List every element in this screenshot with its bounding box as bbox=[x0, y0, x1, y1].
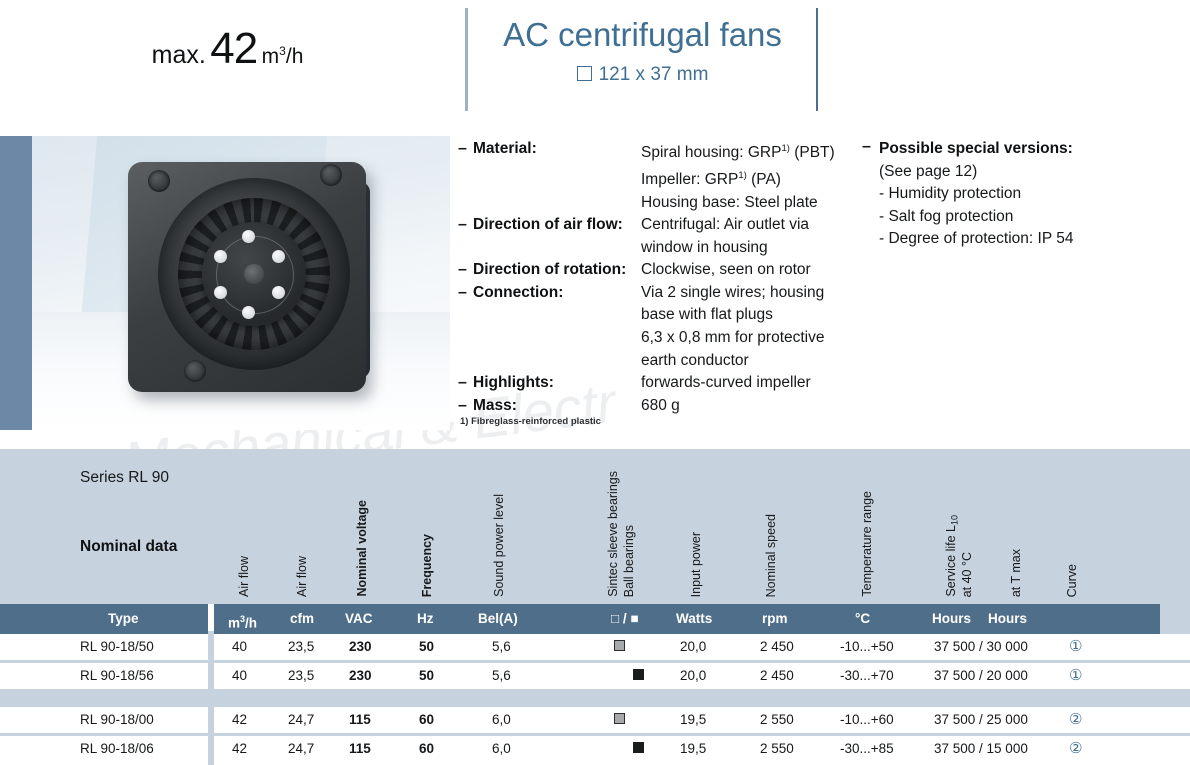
page-title: AC centrifugal fans bbox=[470, 18, 815, 53]
spec-label-rotation-direction: Direction of rotation: bbox=[473, 259, 641, 282]
cell-airflow-m3h: 42 bbox=[232, 707, 247, 733]
cell-temperature: -30...+85 bbox=[840, 736, 894, 762]
spec-row-highlights: – Highlights: forwards-curved impeller bbox=[458, 372, 868, 395]
col-header-nominal-voltage: Nominal voltage bbox=[356, 500, 369, 597]
col-header-at-t-max: at T max bbox=[1010, 549, 1023, 597]
cell-bearing-sintec bbox=[614, 707, 625, 733]
spec-row-mass: – Mass: 680 g bbox=[458, 395, 868, 418]
unit-hours-40c: Hours bbox=[932, 604, 971, 634]
col-header-sound-power-level: Sound power level bbox=[493, 494, 506, 597]
sintec-bearing-icon bbox=[614, 713, 625, 724]
subtitle-text: 121 x 37 mm bbox=[599, 64, 709, 85]
datasheet-page: 富盛加 Mechanical & Electr max. 42 m3/h AC … bbox=[0, 0, 1190, 755]
specifications-list: – Material: Spiral housing: GRP1) (PBT) … bbox=[458, 138, 868, 417]
page-header: max. 42 m3/h AC centrifugal fans 121 x 3… bbox=[0, 0, 1190, 130]
col-header-service-life-temp: at 40 °C bbox=[960, 552, 975, 597]
cell-service-life: 37 500 / 20 000 bbox=[934, 663, 1028, 689]
max-value: 42 bbox=[210, 24, 257, 73]
cell-temperature: -10...+60 bbox=[840, 707, 894, 733]
cell-bearing-ball bbox=[633, 663, 644, 689]
cell-type: RL 90-18/00 bbox=[80, 707, 154, 733]
special-versions-line-0: (See page 12) bbox=[879, 161, 1182, 184]
list-dash: – bbox=[458, 372, 473, 395]
cell-input-power: 20,0 bbox=[680, 634, 706, 660]
ball-bearing-icon bbox=[633, 742, 644, 753]
special-versions-title: Possible special versions: bbox=[879, 138, 1073, 161]
cell-airflow-m3h: 40 bbox=[232, 634, 247, 660]
list-dash: – bbox=[458, 259, 473, 282]
list-dash: – bbox=[458, 395, 473, 418]
cell-voltage: 230 bbox=[349, 663, 372, 689]
product-photo bbox=[32, 136, 450, 430]
nominal-data-label: Nominal data bbox=[80, 538, 177, 556]
cell-input-power: 19,5 bbox=[680, 707, 706, 733]
special-versions-line-3: - Degree of protection: IP 54 bbox=[879, 228, 1182, 251]
unit-cfm: cfm bbox=[290, 604, 314, 634]
cell-input-power: 20,0 bbox=[680, 663, 706, 689]
header-divider-left bbox=[465, 8, 468, 111]
spec-row-connection: – Connection: Via 2 single wires; housin… bbox=[458, 282, 868, 372]
cell-voltage: 115 bbox=[349, 736, 371, 762]
list-dash: – bbox=[458, 214, 473, 237]
cell-type: RL 90-18/56 bbox=[80, 663, 154, 689]
special-versions-block: – Possible special versions: (See page 1… bbox=[862, 138, 1182, 251]
cell-sound: 5,6 bbox=[492, 634, 511, 660]
unit-m3h: m3/h bbox=[228, 604, 257, 634]
cell-voltage: 115 bbox=[349, 707, 371, 733]
cell-temperature: -10...+50 bbox=[840, 634, 894, 660]
spec-row-material: – Material: Spiral housing: GRP1) (PBT) … bbox=[458, 138, 868, 214]
cell-airflow-m3h: 40 bbox=[232, 663, 247, 689]
cell-speed: 2 450 bbox=[760, 663, 794, 689]
spec-value-rotation-direction: Clockwise, seen on rotor bbox=[641, 259, 868, 282]
list-dash: – bbox=[458, 138, 473, 161]
unit-type: Type bbox=[108, 604, 139, 634]
cell-input-power: 19,5 bbox=[680, 736, 706, 762]
cell-curve: ② bbox=[1069, 736, 1082, 762]
spec-label-connection: Connection: bbox=[473, 282, 641, 305]
spec-value-material: Spiral housing: GRP1) (PBT) Impeller: GR… bbox=[641, 138, 868, 214]
cell-sound: 6,0 bbox=[492, 707, 511, 733]
unit-row-divider bbox=[208, 604, 214, 634]
spec-label-mass: Mass: bbox=[473, 395, 641, 418]
table-row[interactable]: RL 90-18/50 40 23,5 230 50 5,6 20,0 2 45… bbox=[0, 634, 1190, 660]
unit-watts: Watts bbox=[676, 604, 712, 634]
unit-vac: VAC bbox=[345, 604, 373, 634]
spec-value-connection: Via 2 single wires; housing base with fl… bbox=[641, 282, 868, 372]
col-header-frequency: Frequency bbox=[421, 534, 434, 597]
ball-bearing-icon bbox=[633, 669, 644, 680]
square-outline-icon bbox=[577, 66, 592, 81]
col-header-input-power: Input power bbox=[690, 532, 703, 597]
product-photo-area bbox=[0, 136, 450, 430]
cell-bearing-sintec bbox=[614, 634, 625, 660]
footnote: 1) Fibreglass-reinforced plastic bbox=[460, 416, 601, 427]
max-unit: m3/h bbox=[262, 45, 304, 68]
spec-label-material: Material: bbox=[473, 138, 641, 161]
table-header: Series RL 90 Nominal data Air flow Air f… bbox=[0, 449, 1190, 604]
cell-type: RL 90-18/50 bbox=[80, 634, 154, 660]
table-body: RL 90-18/50 40 23,5 230 50 5,6 20,0 2 45… bbox=[0, 634, 1190, 762]
col-header-sintec-sleeve-bearings: Sintec sleeve bearings bbox=[606, 471, 621, 597]
unit-bearings: □ / ■ bbox=[611, 604, 639, 634]
table-unit-row: Type m3/h cfm VAC Hz Bel(A) □ / ■ Watts … bbox=[0, 604, 1190, 634]
nominal-data-table: Series RL 90 Nominal data Air flow Air f… bbox=[0, 449, 1190, 765]
spec-value-mass: 680 g bbox=[641, 395, 868, 418]
spec-row-air-flow-direction: – Direction of air flow: Centrifugal: Ai… bbox=[458, 214, 868, 259]
cell-frequency: 50 bbox=[419, 634, 434, 660]
spec-value-air-flow-direction: Centrifugal: Air outlet via window in ho… bbox=[641, 214, 868, 259]
special-versions-line-1: - Humidity protection bbox=[879, 183, 1182, 206]
cell-sound: 5,6 bbox=[492, 663, 511, 689]
col-header-temperature-range: Temperature range bbox=[861, 491, 874, 597]
cell-service-life: 37 500 / 15 000 bbox=[934, 736, 1028, 762]
photo-accent-bar bbox=[0, 136, 32, 430]
col-header-air-flow-m3h: Air flow bbox=[238, 556, 251, 597]
cell-frequency: 60 bbox=[419, 736, 434, 762]
cell-service-life: 37 500 / 30 000 bbox=[934, 634, 1028, 660]
cell-voltage: 230 bbox=[349, 634, 372, 660]
cell-frequency: 50 bbox=[419, 663, 434, 689]
cell-frequency: 60 bbox=[419, 707, 434, 733]
spec-value-highlights: forwards-curved impeller bbox=[641, 372, 868, 395]
cell-speed: 2 550 bbox=[760, 707, 794, 733]
col-header-curve: Curve bbox=[1066, 564, 1079, 597]
unit-hz: Hz bbox=[417, 604, 434, 634]
cell-curve: ① bbox=[1069, 663, 1082, 689]
cell-airflow-cfm: 24,7 bbox=[288, 736, 314, 762]
col-header-air-flow-cfm: Air flow bbox=[296, 556, 309, 597]
spec-label-air-flow-direction: Direction of air flow: bbox=[473, 214, 641, 237]
cell-type: RL 90-18/06 bbox=[80, 736, 154, 762]
cell-speed: 2 450 bbox=[760, 634, 794, 660]
table-row[interactable]: RL 90-18/06 42 24,7 115 60 6,0 19,5 2 55… bbox=[0, 736, 1190, 762]
max-airflow-callout: max. 42 m3/h bbox=[0, 24, 455, 74]
header-divider-right bbox=[816, 8, 818, 111]
spec-row-rotation-direction: – Direction of rotation: Clockwise, seen… bbox=[458, 259, 868, 282]
table-group-separator bbox=[0, 692, 1190, 704]
series-label: Series RL 90 bbox=[80, 469, 169, 487]
page-subtitle: 121 x 37 mm bbox=[470, 64, 815, 86]
cell-sound: 6,0 bbox=[492, 736, 511, 762]
sintec-bearing-icon bbox=[614, 640, 625, 651]
special-versions-line-2: - Salt fog protection bbox=[879, 206, 1182, 229]
cell-curve: ② bbox=[1069, 707, 1082, 733]
cell-service-life: 37 500 / 25 000 bbox=[934, 707, 1028, 733]
table-row[interactable]: RL 90-18/00 42 24,7 115 60 6,0 19,5 2 55… bbox=[0, 707, 1190, 733]
cell-airflow-m3h: 42 bbox=[232, 736, 247, 762]
unit-hours-tmax: Hours bbox=[988, 604, 1027, 634]
cell-bearing-ball bbox=[633, 736, 644, 762]
unit-degc: °C bbox=[855, 604, 870, 634]
unit-rpm: rpm bbox=[762, 604, 788, 634]
list-dash: – bbox=[458, 282, 473, 305]
spec-label-highlights: Highlights: bbox=[473, 372, 641, 395]
centrifugal-fan-illustration bbox=[124, 160, 374, 400]
cell-curve: ① bbox=[1069, 634, 1082, 660]
unit-bel: Bel(A) bbox=[478, 604, 518, 634]
title-block: AC centrifugal fans 121 x 37 mm bbox=[470, 18, 815, 86]
cell-airflow-cfm: 24,7 bbox=[288, 707, 314, 733]
col-header-ball-bearings: Ball bearings bbox=[622, 525, 637, 597]
cell-airflow-cfm: 23,5 bbox=[288, 634, 314, 660]
cell-temperature: -30...+70 bbox=[840, 663, 894, 689]
list-dash: – bbox=[862, 138, 879, 156]
cell-speed: 2 550 bbox=[760, 736, 794, 762]
cell-airflow-cfm: 23,5 bbox=[288, 663, 314, 689]
col-header-nominal-speed: Nominal speed bbox=[765, 514, 778, 597]
max-prefix: max. bbox=[152, 41, 206, 69]
table-row[interactable]: RL 90-18/56 40 23,5 230 50 5,6 20,0 2 45… bbox=[0, 663, 1190, 689]
